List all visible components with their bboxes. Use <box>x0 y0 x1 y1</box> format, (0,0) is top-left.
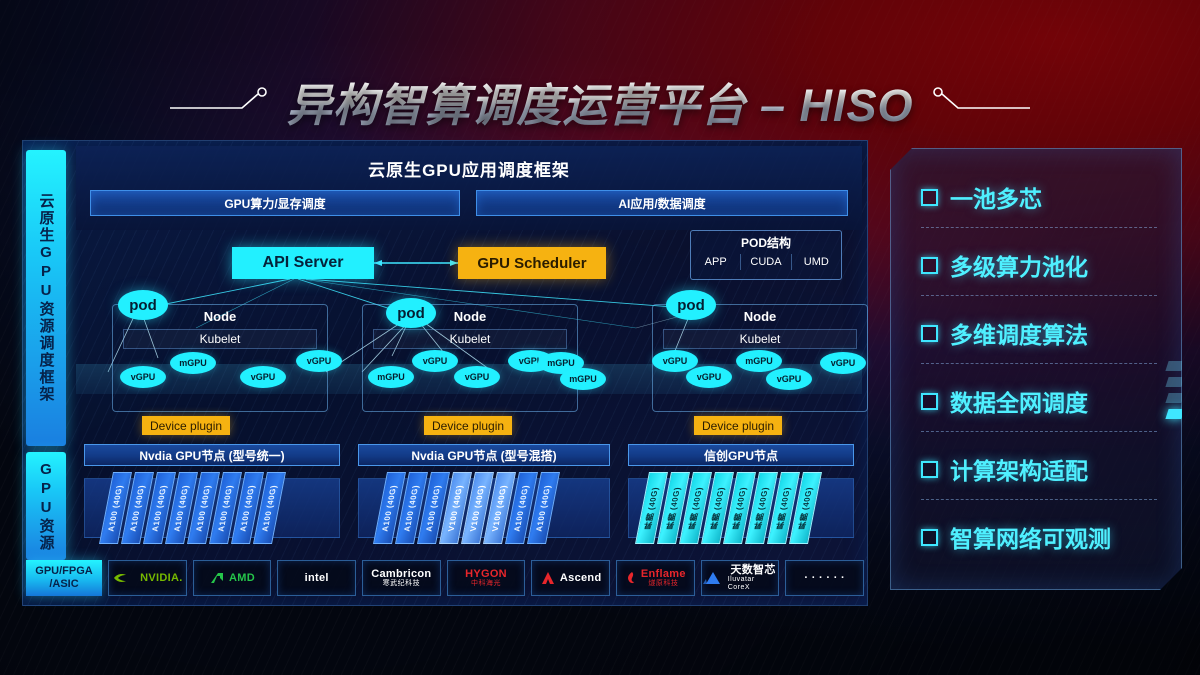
checkbox-icon[interactable] <box>921 529 938 546</box>
side-tab-gpu-resource: GPU资源 <box>26 452 66 560</box>
vendor-name: intel <box>305 572 329 585</box>
vendor-name: Enflame <box>641 568 686 581</box>
vendor-logo-ascend[interactable]: Ascend <box>531 560 610 596</box>
vendor-text: · · · · · · <box>804 572 845 585</box>
pod-struct-cell-umd: UMD <box>791 254 841 270</box>
vendor-label-line2: /ASIC <box>49 578 78 591</box>
checkbox-icon[interactable] <box>921 393 938 410</box>
gpu-scheduler-node[interactable]: GPU Scheduler <box>458 247 606 279</box>
kubelet-bar: Kubelet <box>123 329 317 349</box>
vendor-name: 天数智芯 <box>730 564 775 577</box>
feature-panel: 一池多芯多级算力池化多维调度算法数据全网调度计算架构适配智算网络可观测 <box>890 148 1182 590</box>
gpu-card-label: V100 (40G) <box>490 485 508 531</box>
api-server-node[interactable]: API Server <box>232 247 374 279</box>
kubelet-bar: Kubelet <box>663 329 857 349</box>
title-bar: 异构智算调度运营平台 – HISO <box>0 66 1200 136</box>
panel-notch-decoration <box>1167 361 1183 453</box>
vendor-logo-list: NVIDIA.AMDintelCambricon寒武纪科技HYGON中科海光As… <box>108 560 864 596</box>
mgpu-ellipse[interactable]: mGPU <box>560 368 606 390</box>
enflame-logo <box>625 571 637 585</box>
feature-separator <box>921 227 1157 228</box>
feature-label: 计算架构适配 <box>950 452 1088 486</box>
device-plugin-button[interactable]: Device plugin <box>142 416 230 435</box>
feature-label: 多维调度算法 <box>950 316 1088 350</box>
vendor-text: Enflame燧原科技 <box>641 568 686 589</box>
feature-separator <box>921 295 1157 296</box>
gpu-resource-region: Nvdia GPU节点 (型号统一) Nvdia GPU节点 (型号混搭) 信创… <box>76 444 862 562</box>
ascend-logo <box>540 571 556 585</box>
vendor-logo-iluvatar[interactable]: 天数智芯Iluvatar CoreX <box>701 560 780 596</box>
checkbox-icon[interactable] <box>921 461 938 478</box>
vendor-logo-enflame[interactable]: Enflame燧原科技 <box>616 560 695 596</box>
vgpu-ellipse[interactable]: vGPU <box>766 368 812 390</box>
feature-label: 数据全网调度 <box>950 384 1088 418</box>
feature-label: 多级算力池化 <box>950 248 1088 282</box>
vgpu-ellipse[interactable]: vGPU <box>820 352 866 374</box>
checkbox-icon[interactable] <box>921 257 938 274</box>
pod-ellipse[interactable]: pod <box>118 290 168 320</box>
side-tab-framework: 云原生GPU资源调度框架 <box>26 150 66 446</box>
kubelet-bar: Kubelet <box>373 329 567 349</box>
notch-bar <box>1165 393 1184 403</box>
vendor-strip: GPU/FPGA /ASIC NVIDIA.AMDintelCambricon寒… <box>22 558 868 598</box>
feature-label: 智算网络可观测 <box>950 520 1111 554</box>
vendor-logo-nvidia[interactable]: NVIDIA. <box>108 560 187 596</box>
vendor-logo-ellipsis[interactable]: · · · · · · <box>785 560 864 596</box>
feature-label: 一池多芯 <box>950 180 1042 214</box>
vendor-name: NVIDIA. <box>140 572 182 585</box>
gpu-group-label: Nvdia GPU节点 (型号统一) <box>84 444 340 466</box>
feature-item[interactable]: 计算架构适配 <box>921 447 1163 491</box>
vgpu-ellipse[interactable]: vGPU <box>412 350 458 372</box>
framework-header: 云原生GPU应用调度框架 GPU算力/显存调度 AI应用/数据调度 <box>76 146 862 230</box>
pod-structure-title: POD结构 <box>691 234 841 251</box>
framework-bar-compute[interactable]: GPU算力/显存调度 <box>90 190 460 216</box>
vendor-subtitle: 燧原科技 <box>648 580 678 588</box>
vendor-text: intel <box>305 572 329 585</box>
feature-separator <box>921 363 1157 364</box>
vendor-text: AMD <box>229 572 255 585</box>
pod-structure-row: APP CUDA UMD <box>691 254 841 270</box>
vgpu-ellipse[interactable]: vGPU <box>454 366 500 388</box>
vgpu-ellipse[interactable]: vGPU <box>240 366 286 388</box>
vendor-text: Cambricon寒武纪科技 <box>371 568 431 589</box>
title-right-decoration <box>930 86 1030 116</box>
feature-item[interactable]: 多级算力池化 <box>921 243 1163 287</box>
gpu-card-label: V100 (40G) <box>446 485 464 531</box>
feature-item[interactable]: 一池多芯 <box>921 175 1163 219</box>
vendor-name: AMD <box>229 572 255 585</box>
gpu-card-label: V100 (40G) <box>468 485 486 531</box>
notch-bar-active <box>1165 409 1184 419</box>
pod-ellipse[interactable]: pod <box>386 298 436 328</box>
feature-item[interactable]: 数据全网调度 <box>921 379 1163 423</box>
pod-struct-cell-app: APP <box>691 254 740 270</box>
feature-separator <box>921 499 1157 500</box>
vendor-subtitle: 中科海光 <box>471 580 501 588</box>
iluvatar-logo <box>702 571 724 585</box>
vendor-subtitle: Iluvatar CoreX <box>728 576 779 592</box>
vendor-strip-label: GPU/FPGA /ASIC <box>26 560 102 596</box>
gpu-group-label: 信创GPU节点 <box>628 444 854 466</box>
feature-separator <box>921 431 1157 432</box>
amd-logo <box>209 571 225 585</box>
pod-ellipse[interactable]: pod <box>666 290 716 320</box>
page-title: 异构智算调度运营平台 – HISO <box>286 69 913 134</box>
vendor-logo-amd[interactable]: AMD <box>193 560 272 596</box>
vgpu-ellipse[interactable]: vGPU <box>120 366 166 388</box>
device-plugin-button[interactable]: Device plugin <box>694 416 782 435</box>
device-plugin-button[interactable]: Device plugin <box>424 416 512 435</box>
vgpu-ellipse[interactable]: vGPU <box>296 350 342 372</box>
scheduling-region: API Server GPU Scheduler POD结构 APP CUDA … <box>76 232 862 440</box>
vendor-name: · · · · · · <box>804 572 845 585</box>
vendor-label-line1: GPU/FPGA <box>35 565 92 578</box>
pod-struct-cell-cuda: CUDA <box>740 254 790 270</box>
feature-item[interactable]: 多维调度算法 <box>921 311 1163 355</box>
vendor-logo-intel[interactable]: intel <box>277 560 356 596</box>
checkbox-icon[interactable] <box>921 189 938 206</box>
checkbox-icon[interactable] <box>921 325 938 342</box>
framework-bar-ai[interactable]: AI应用/数据调度 <box>476 190 848 216</box>
vendor-subtitle: 寒武纪科技 <box>383 580 421 588</box>
pod-structure-box: POD结构 APP CUDA UMD <box>690 230 842 280</box>
vendor-name: Cambricon <box>371 568 431 581</box>
vendor-name: Ascend <box>560 572 602 585</box>
mgpu-ellipse[interactable]: mGPU <box>368 366 414 388</box>
framework-title: 云原生GPU应用调度框架 <box>76 156 862 181</box>
gpu-group-label: Nvdia GPU节点 (型号混搭) <box>358 444 610 466</box>
vendor-text: 天数智芯Iluvatar CoreX <box>728 564 779 593</box>
vendor-name: HYGON <box>465 568 507 581</box>
mgpu-ellipse[interactable]: mGPU <box>736 350 782 372</box>
title-left-decoration <box>170 86 270 116</box>
vendor-text: NVIDIA. <box>140 572 182 585</box>
notch-bar <box>1165 361 1184 371</box>
feature-item[interactable]: 智算网络可观测 <box>921 515 1163 559</box>
notch-bar <box>1165 377 1184 387</box>
mgpu-ellipse[interactable]: mGPU <box>170 352 216 374</box>
vendor-logo-cambricon[interactable]: Cambricon寒武纪科技 <box>362 560 441 596</box>
nvidia-logo <box>112 571 136 585</box>
vendor-text: HYGON中科海光 <box>465 568 507 589</box>
vendor-logo-hygon[interactable]: HYGON中科海光 <box>447 560 526 596</box>
vendor-text: Ascend <box>560 572 602 585</box>
vgpu-ellipse[interactable]: vGPU <box>686 366 732 388</box>
